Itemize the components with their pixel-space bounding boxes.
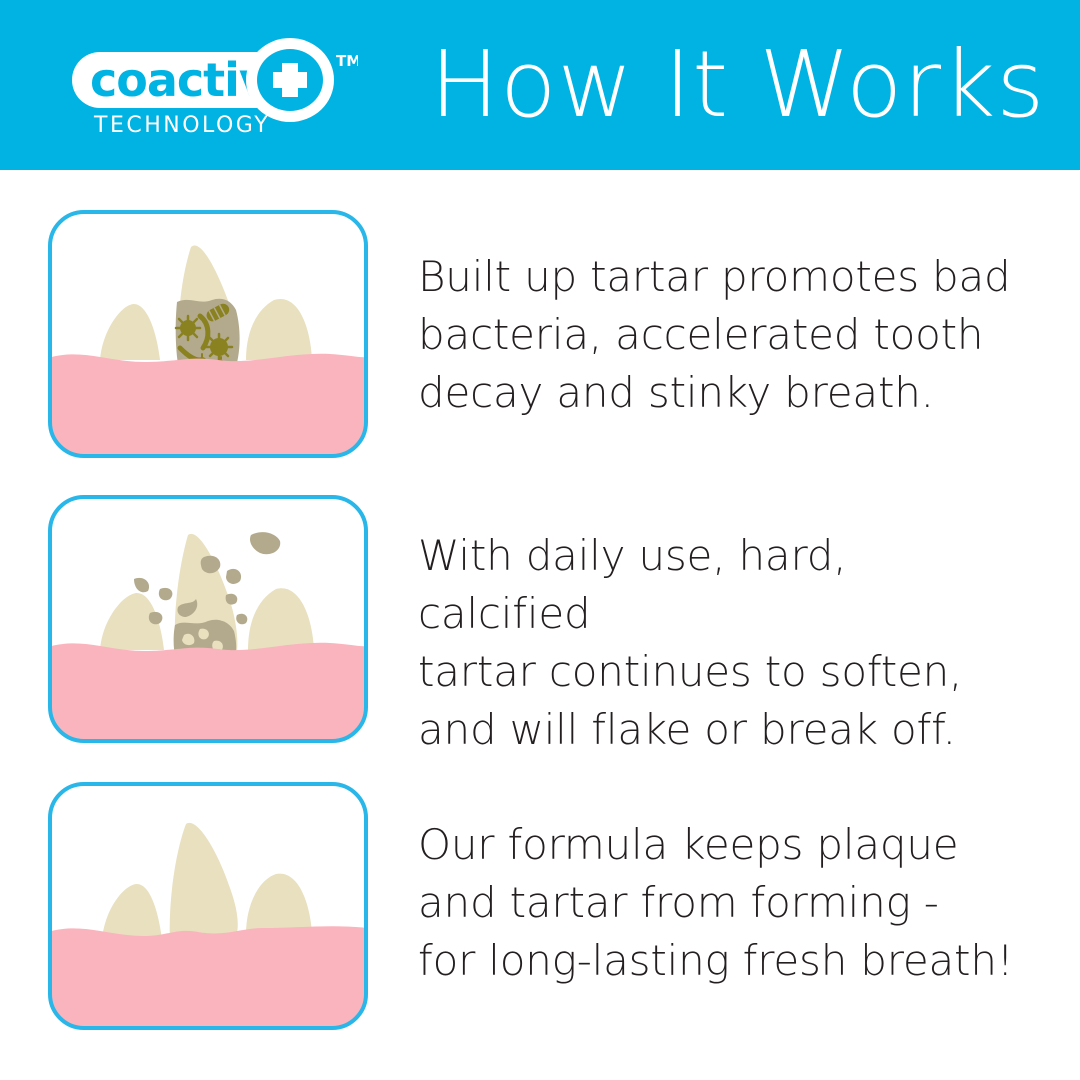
illustration-clean-healthy-teeth [48,782,368,1030]
bacteria-germ-2 [206,334,232,360]
step-text-3: Our formula keeps plaque and tartar from… [418,816,1018,990]
coactiv-logo: coactiv TM TECHNOLOGY [68,38,358,138]
logo-trademark: TM [336,52,358,70]
page-header: coactiv TM TECHNOLOGY How It Works [0,0,1080,170]
step-text-2: With daily use, hard, calcified tartar c… [418,527,1018,759]
step-row-3: Our formula keeps plaque and tartar from… [0,782,1080,1042]
bacteria-germ-1 [176,316,200,340]
logo-subtitle: TECHNOLOGY [93,113,270,138]
step-row-2: With daily use, hard, calcified tartar c… [0,495,1080,755]
gum-line [48,926,368,1030]
page-title: How It Works [430,18,1040,152]
step-text-1: Built up tartar promotes bad bacteria, a… [418,248,1018,422]
logo-wordmark: coactiv [90,53,269,107]
illustration-tooth-with-tartar-flaking-off [48,495,368,743]
step-row-1: Built up tartar promotes bad bacteria, a… [0,210,1080,470]
gum-line [48,643,368,743]
illustration-tooth-with-tartar-and-bacteria [48,210,368,458]
gum-line [48,354,368,458]
